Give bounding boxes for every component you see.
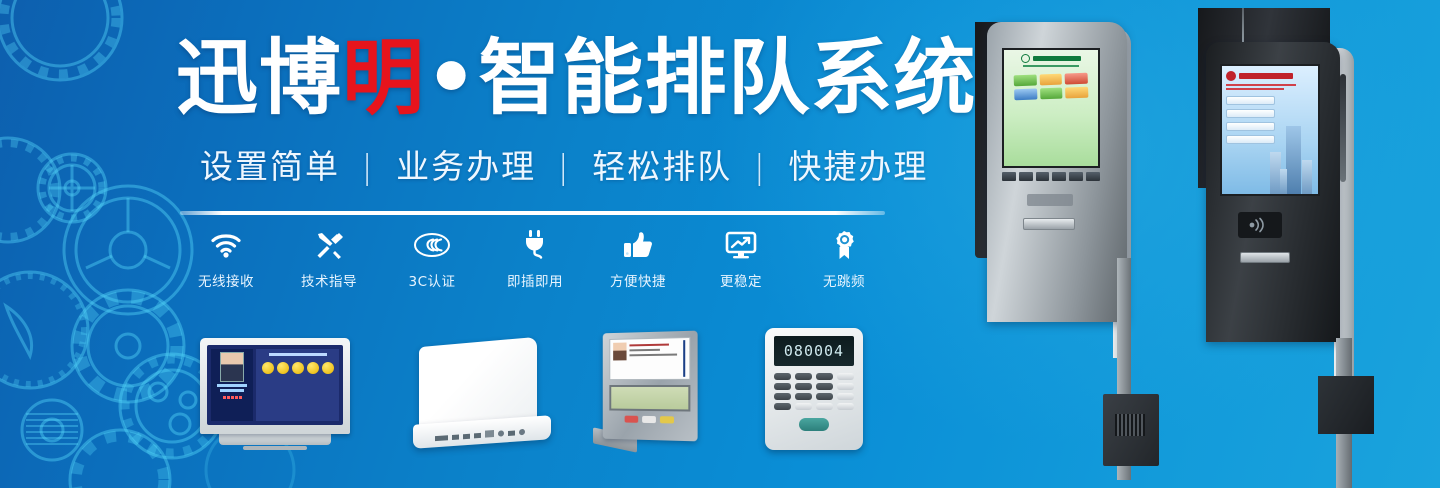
feature-item-3c-certification: 3C认证 [386,228,478,290]
monitor-screen [207,345,343,425]
rating-stars [223,396,242,399]
staff-card-display [609,337,690,380]
rfid-wave-icon [1247,217,1273,233]
staff-card-photo [613,343,626,361]
queue-kiosk-icbc [1198,8,1378,488]
keypad-button-grid[interactable] [774,373,854,410]
kiosk-a-subtitle-line [1023,65,1079,67]
feature-item-technical-guidance: 技术指导 [283,228,375,290]
kiosk-a-touchscreen[interactable] [1002,48,1100,168]
promotional-banner: 迅博明•智能排队系统 设置简单 | 业务办理 | 轻松排队 | 快捷办理 无线接… [0,0,1440,488]
staff-photo [220,352,244,382]
subtitle-item-0: 设置简单 [200,147,340,186]
feature-list: 无线接收 技术指导 [180,228,890,290]
evaluation-panel [256,349,339,421]
kiosk-b-card-reader[interactable] [1238,212,1282,238]
kiosk-a-brand-logo [1027,194,1073,206]
subtitle: 设置简单 | 业务办理 | 轻松排队 | 快捷办理 [200,146,928,188]
feature-label: 技术指导 [301,270,357,290]
kiosk-a-service-buttons[interactable] [1014,73,1089,101]
feature-item-plug-and-play: 即插即用 [489,228,581,290]
feature-label: 无线接收 [198,270,254,290]
product-wireless-caller-keypad: 080004 [765,328,863,450]
staff-card-text [629,341,686,376]
monitor-stand [219,434,331,445]
staff-info-panel [211,349,253,421]
3c-certification-icon [413,228,451,262]
product-desktop-evaluator [593,332,705,450]
title-highlight-character: 明 [342,31,425,126]
horizontal-divider [180,211,885,215]
bank-logo-icon [1021,54,1030,63]
feature-label: 即插即用 [507,270,563,290]
evaluation-prompt [269,353,327,356]
staff-id-line [220,389,244,392]
kiosk-b-skyline-graphic [1268,122,1316,194]
monitor-bezel [200,338,350,434]
keypad-body: 080004 [765,328,863,450]
staff-name-line [217,384,248,387]
title-separator-dot: • [425,31,478,126]
page-title: 迅博明•智能排队系统 [176,36,976,122]
subtitle-separator-1: | [549,147,580,186]
subtitle-separator-2: | [745,147,776,186]
title-part-1: 迅博 [176,31,342,126]
kiosk-a-ticket-slot [1023,218,1075,230]
keypad-display-value: 080004 [784,342,844,360]
subtitle-item-2: 轻松排队 [592,147,732,186]
keypad-lcd-screen: 080004 [774,336,854,366]
kiosk-b-notice-line-2 [1226,88,1284,90]
evaluator-body [603,331,698,442]
subtitle-separator-0: | [353,147,384,186]
kiosk-a-vent [1115,414,1145,436]
icbc-name-text [1239,73,1293,79]
award-medal-icon [832,228,856,262]
feature-label: 3C认证 [408,270,455,290]
kiosk-a-screen-content [1004,50,1098,166]
bank-name-text [1033,56,1081,61]
tools-icon [314,228,344,262]
product-wireless-host-unit [413,340,551,450]
kiosk-b-notice-line-1 [1226,84,1296,86]
keypad-enter-button[interactable] [799,418,829,431]
monitor-chart-icon [725,228,757,262]
kiosk-b-side-slot [1340,74,1346,182]
kiosk-b-touchscreen[interactable] [1220,64,1320,196]
feature-item-more-stable: 更稳定 [695,228,787,290]
feature-label: 方便快捷 [610,270,666,290]
power-plug-icon [522,228,548,262]
subtitle-item-1: 业务办理 [396,147,536,186]
monitor-foot [243,446,307,450]
kiosk-b-bank-header [1226,71,1314,81]
product-showcase: 080004 [195,322,895,450]
kiosk-b-base-box [1318,376,1374,434]
feature-item-wireless: 无线接收 [180,228,272,290]
feature-label: 无跳频 [823,270,865,290]
kiosk-b-ticket-slot [1240,252,1290,263]
wifi-icon [210,228,242,262]
kiosk-b-screen-content [1222,66,1318,194]
title-part-2: 智能排队系统 [478,31,976,126]
queue-kiosk-agricultural-bank [975,22,1150,488]
thumbs-up-icon [623,228,653,262]
kiosk-a-bank-header [1021,54,1081,63]
feature-item-convenient: 方便快捷 [592,228,684,290]
kiosk-a-function-keys[interactable] [1002,172,1100,181]
emoji-rating-group [260,362,334,374]
feature-label: 更稳定 [720,270,762,290]
icbc-logo-icon [1226,71,1236,81]
evaluator-lcd-screen [609,385,690,412]
product-evaluation-monitor [200,338,350,450]
feature-item-no-frequency-hopping: 无跳频 [798,228,890,290]
evaluator-buttons [609,415,690,423]
subtitle-item-3: 快捷办理 [788,147,928,186]
